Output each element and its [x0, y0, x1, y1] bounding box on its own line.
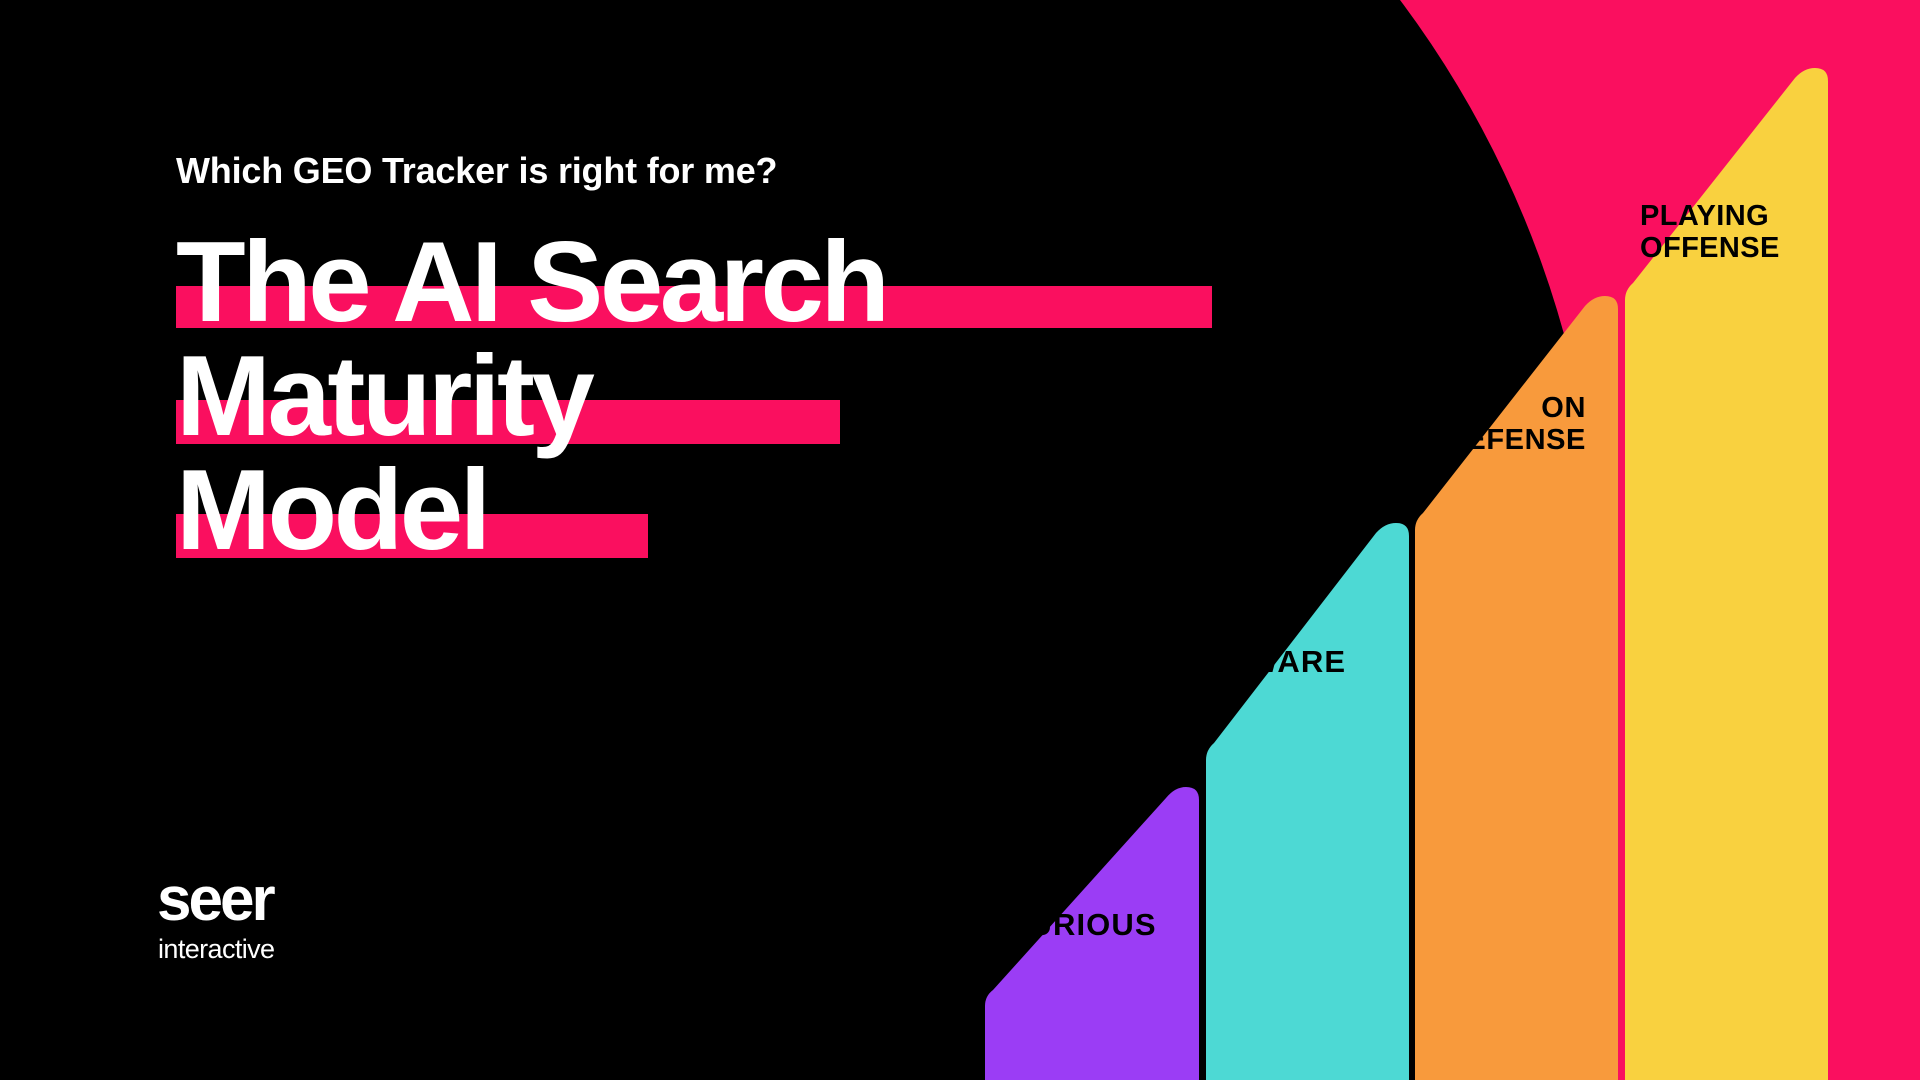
headline-block: Which GEO Tracker is right for me? The A…: [176, 150, 1236, 568]
bar-curious[interactable]: [985, 787, 1199, 1080]
poster-canvas: CURIOUS AWARE ON DEFENSE PLAYING OFFENSE…: [0, 0, 1920, 1080]
logo-wordmark: seer: [157, 872, 274, 928]
title-line-3: Model: [176, 454, 1236, 568]
logo-tagline: interactive: [158, 934, 274, 964]
title-line-3-text: Model: [176, 454, 488, 568]
bar-aware[interactable]: [1206, 523, 1409, 1080]
eyebrow-text: Which GEO Tracker is right for me?: [176, 150, 1236, 192]
title-line-2-text: Maturity: [176, 340, 591, 454]
title-line-1-text: The AI Search: [176, 226, 887, 340]
bar-on-defense[interactable]: [1415, 296, 1618, 1080]
seer-interactive-logo[interactable]: seer interactive: [157, 872, 274, 964]
bar-playing-offense[interactable]: [1625, 68, 1828, 1080]
title-line-2: Maturity: [176, 340, 1236, 454]
title-line-1: The AI Search: [176, 226, 1236, 340]
